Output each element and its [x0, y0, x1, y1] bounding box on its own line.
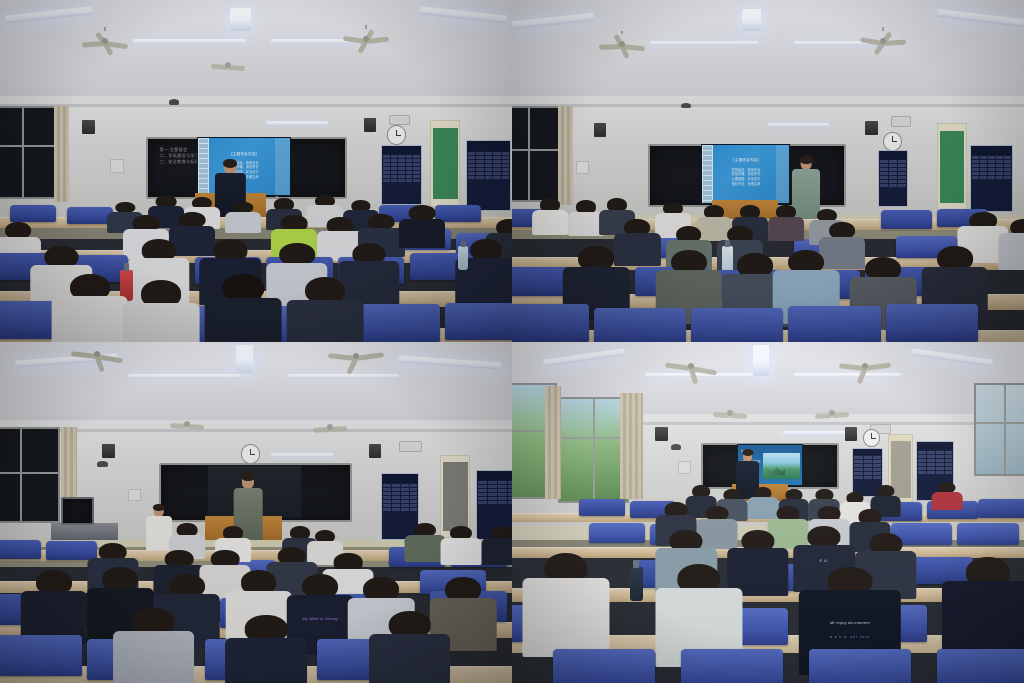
speaker-icon	[102, 444, 114, 458]
chair[interactable]	[353, 304, 440, 342]
student	[51, 274, 128, 342]
slide-title: 【主题班会内容】	[198, 151, 290, 156]
chair[interactable]	[67, 207, 113, 224]
student	[932, 482, 963, 509]
water-bottle-icon	[458, 246, 468, 270]
ceiling-light	[236, 345, 253, 372]
chair[interactable]	[553, 649, 655, 683]
student	[225, 615, 307, 683]
phone-pocket-board	[970, 145, 1013, 212]
projector-icon	[389, 115, 409, 126]
student	[225, 202, 261, 233]
student	[998, 219, 1024, 267]
curtain	[558, 106, 573, 205]
chair[interactable]	[594, 308, 686, 342]
chair[interactable]	[681, 649, 783, 683]
chair[interactable]	[809, 649, 911, 683]
board-light	[266, 121, 327, 125]
chair[interactable]	[788, 306, 880, 342]
window	[974, 383, 1024, 476]
shirt-graphic: Mr enjoy da moment	[799, 620, 901, 625]
student	[20, 570, 87, 638]
board-light	[271, 453, 332, 457]
chair[interactable]	[10, 205, 56, 222]
window	[512, 106, 562, 202]
slide-image	[763, 453, 800, 479]
wall-clock-icon	[883, 132, 901, 151]
ceiling-light	[650, 41, 758, 45]
ceiling-light	[133, 39, 246, 44]
ceiling-fan-icon	[72, 31, 139, 52]
speaker-icon	[845, 427, 857, 441]
student	[369, 611, 451, 683]
ceiling-fan-icon	[850, 31, 917, 52]
student	[481, 526, 512, 564]
phone-pocket-board	[466, 140, 512, 210]
board-light	[783, 431, 844, 435]
chair[interactable]	[978, 499, 1024, 518]
projection-screen[interactable]: 【主题班会内容】 学风建设、宿舍安全 防范诈骗、诚信考试 心理健康、安全出行 遵…	[701, 144, 790, 203]
wall-clock-icon	[387, 125, 406, 145]
ceiling-fan-icon	[809, 407, 855, 419]
ceiling-fan-icon	[655, 356, 727, 376]
slide-title: 【主题班会内容】	[702, 157, 789, 162]
chair[interactable]	[957, 523, 1018, 545]
camera-icon	[169, 99, 179, 104]
board-light	[768, 123, 829, 127]
speaker-icon	[364, 118, 376, 132]
ceiling-fan-icon	[307, 420, 353, 434]
speaker-icon	[655, 427, 667, 441]
wall-switch	[576, 161, 589, 174]
curtain	[620, 393, 643, 499]
curtain	[54, 106, 69, 202]
shirt-graphic-sub: M.E.D.M. EST 2018	[799, 635, 901, 640]
slide-body: 学风建设、宿舍安全 防范诈骗、诚信考试 心理健康、安全出行 遵纪守法、珍爱生命	[702, 168, 789, 186]
student	[399, 205, 445, 246]
ceiling-light	[230, 8, 250, 32]
monitor	[61, 497, 93, 525]
student	[655, 564, 742, 659]
chair[interactable]	[512, 304, 589, 342]
phone-pocket-board	[878, 150, 908, 207]
ceiling-light	[128, 374, 241, 378]
ceiling-light	[742, 9, 760, 31]
ceiling-fan-icon	[205, 58, 251, 72]
door[interactable]	[430, 120, 460, 208]
speaker-icon	[865, 121, 877, 135]
wall-switch	[128, 489, 141, 501]
window	[558, 397, 629, 503]
camera-icon	[671, 444, 681, 449]
phone-pocket-board	[381, 145, 421, 205]
wall-switch	[678, 461, 690, 473]
water-bottle-icon	[630, 567, 643, 601]
panel-top-left[interactable]: 第一:主题班会 二、学风建设与学习方法 三、安全教育与纪律要求 【主题班会内容】…	[0, 0, 512, 342]
camera-icon	[97, 461, 107, 466]
student	[123, 280, 200, 342]
ceiling-fan-icon	[61, 344, 133, 364]
ceiling-light	[753, 345, 769, 376]
ceiling-fan-icon	[707, 407, 753, 419]
projector-icon	[399, 441, 421, 452]
window	[0, 427, 60, 523]
student	[287, 277, 364, 342]
curtain	[545, 386, 560, 499]
teacher-desk	[51, 523, 118, 540]
student	[113, 608, 195, 683]
student	[205, 274, 282, 342]
chair[interactable]	[691, 308, 783, 342]
ceiling-fan-icon	[829, 356, 901, 376]
chair[interactable]	[445, 303, 512, 341]
wall-clock-icon	[241, 444, 260, 464]
camera-icon	[681, 103, 691, 108]
panel-top-right[interactable]: 【主题班会内容】 学风建设、宿舍安全 防范诈骗、诚信考试 心理健康、安全出行 遵…	[512, 0, 1024, 342]
window	[0, 106, 60, 199]
chair[interactable]	[0, 635, 82, 676]
speaker-icon	[594, 123, 606, 137]
ceiling-light	[287, 374, 400, 378]
chair[interactable]	[0, 540, 41, 559]
student	[440, 526, 481, 564]
ceiling-fan-icon	[164, 417, 210, 431]
shirt-graphic-fu: FU	[794, 558, 855, 563]
chair[interactable]	[937, 649, 1024, 683]
ceiling-fan-icon	[333, 29, 400, 50]
projector-icon	[891, 116, 911, 127]
ceiling-fan-icon	[589, 34, 656, 55]
door[interactable]	[937, 123, 967, 211]
panel-bottom-left[interactable]: My Mind Is Strong	[0, 342, 512, 683]
wall-switch	[110, 159, 124, 173]
student	[532, 198, 568, 232]
chair[interactable]	[886, 304, 978, 342]
ceiling-fan-icon	[317, 345, 394, 365]
wall-clock-icon	[863, 429, 880, 447]
student	[942, 557, 1024, 659]
chair[interactable]	[579, 499, 625, 516]
student	[404, 523, 445, 561]
student	[768, 205, 804, 239]
chair[interactable]	[589, 523, 645, 543]
panel-bottom-right[interactable]: 主题班会 安全教育 · 文明校园	[512, 342, 1024, 683]
chair[interactable]	[881, 210, 932, 229]
photo-collage: 第一:主题班会 二、学风建设与学习方法 三、安全教育与纪律要求 【主题班会内容】…	[0, 0, 1024, 683]
speaker-icon	[82, 120, 95, 134]
speaker-icon	[369, 444, 381, 458]
student	[522, 553, 609, 648]
